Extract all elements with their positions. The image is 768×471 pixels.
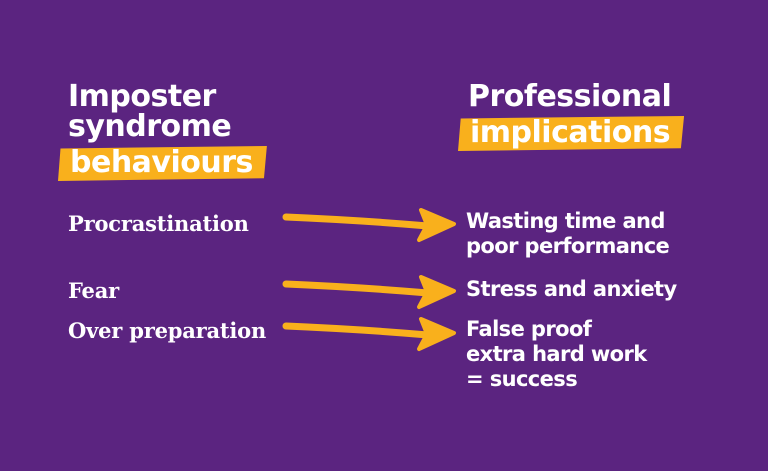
behaviour-label-1: Procrastination xyxy=(68,211,249,236)
implication-line: Stress and anxiety xyxy=(466,277,677,302)
right-heading-line-2: implications xyxy=(470,115,670,150)
implication-text-1: Wasting time and poor performance xyxy=(466,209,669,259)
right-column-heading: Professional implications xyxy=(468,82,684,151)
arrow-right-icon xyxy=(282,269,462,313)
left-column-heading: Imposter syndrome behaviours xyxy=(68,82,267,181)
implication-line: extra hard work xyxy=(466,342,647,367)
left-heading-highlight: behaviours xyxy=(58,146,267,181)
slide-canvas: Imposter syndrome behaviours Professiona… xyxy=(0,0,768,471)
right-heading-highlight: implications xyxy=(458,116,684,151)
left-heading-line-1: Imposter xyxy=(68,82,267,112)
arrow-right-icon xyxy=(282,202,462,246)
implication-line: poor performance xyxy=(466,234,669,259)
arrow-right-icon xyxy=(282,311,462,355)
behaviour-label-2: Fear xyxy=(68,278,119,303)
implication-text-2: Stress and anxiety xyxy=(466,277,677,302)
behaviour-label-3: Over preparation xyxy=(68,318,266,343)
implication-line: Wasting time and xyxy=(466,209,669,234)
right-heading-line-1: Professional xyxy=(468,82,684,112)
left-heading-line-3: behaviours xyxy=(70,145,253,180)
left-heading-line-2: syndrome xyxy=(68,112,267,142)
implication-line: False proof xyxy=(466,317,647,342)
implication-text-3: False proof extra hard work = success xyxy=(466,317,647,392)
implication-line: = success xyxy=(466,367,647,392)
